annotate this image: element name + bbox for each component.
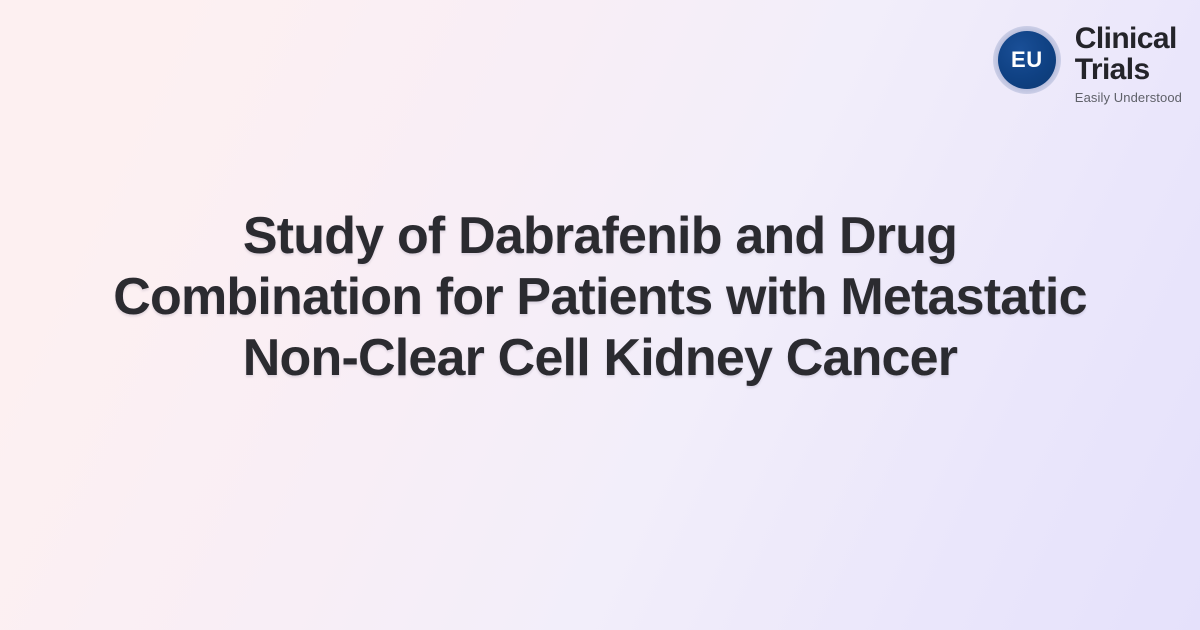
badge-label: EU [1011, 49, 1043, 71]
logo-wordmark: Clinical Trials Easily Understood [1075, 22, 1182, 105]
logo-word-trials: Trials [1075, 55, 1182, 86]
site-logo[interactable]: EU Clinical Trials Easily Understood [993, 22, 1182, 105]
hero-section: Study of Dabrafenib and Drug Combination… [0, 206, 1200, 389]
eu-badge-icon: EU [993, 26, 1061, 94]
logo-tagline: Easily Understood [1075, 90, 1182, 105]
page-title: Study of Dabrafenib and Drug Combination… [90, 206, 1110, 389]
logo-word-clinical: Clinical [1075, 24, 1182, 55]
badge-disc: EU [998, 31, 1056, 89]
